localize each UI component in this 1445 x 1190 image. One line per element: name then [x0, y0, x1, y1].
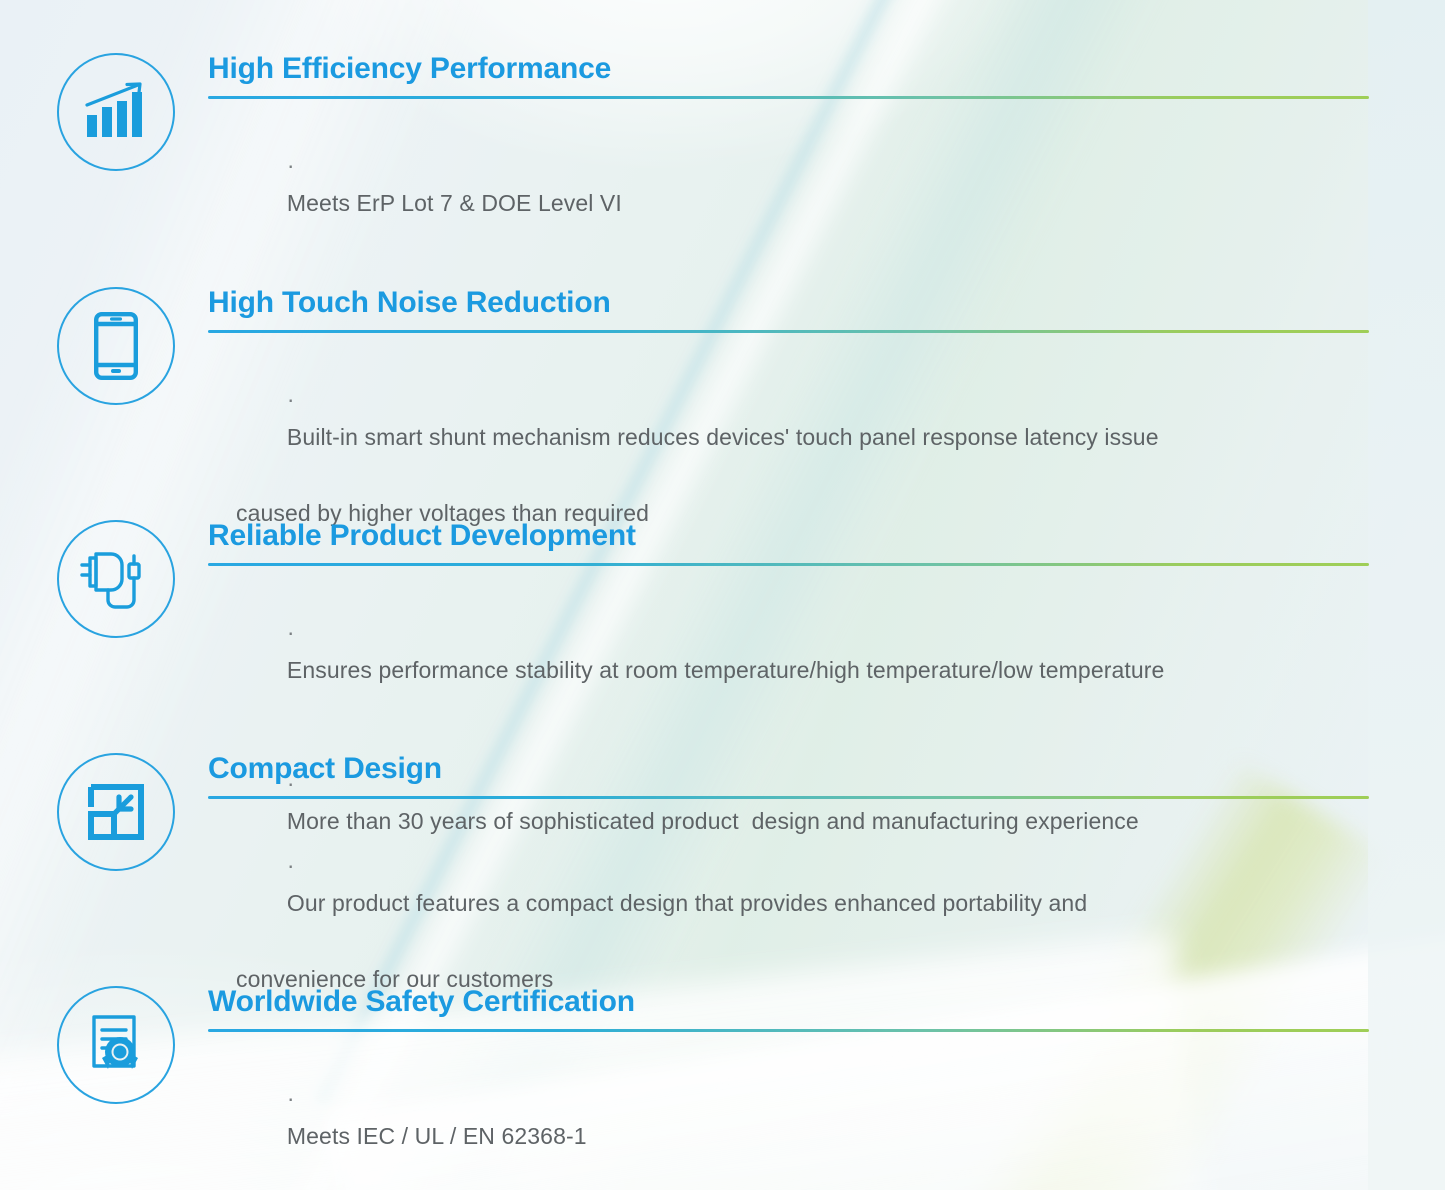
bullet-marker: · [287, 852, 295, 878]
bullet-marker: · [287, 1085, 295, 1111]
bar-chart-growth-icon [57, 53, 175, 171]
compact-resize-icon [57, 753, 175, 871]
feature-bullet: · Meets ErP Lot 7 & DOE Level VI [208, 110, 1369, 262]
feature-bullet: · Meets IEC / UL / EN 62368-1 [208, 1043, 1369, 1190]
bullet-marker: · [287, 152, 295, 178]
feature-icon-wrap [56, 52, 176, 172]
feature-bullet: · Ensures performance stability at room … [208, 577, 1369, 729]
feature-divider [208, 96, 1369, 99]
power-adapter-icon [57, 520, 175, 638]
feature-divider [208, 1029, 1369, 1032]
feature-row-high-efficiency-performance: High Efficiency Performance · Meets ErP … [0, 52, 1445, 261]
certificate-seal-icon [57, 986, 175, 1104]
feature-text-column: High Efficiency Performance · Meets ErP … [208, 52, 1445, 261]
bullet-text: Meets IEC / UL / EN 62368-1 [287, 1123, 587, 1149]
feature-text-column: Worldwide Safety Certification · Meets I… [208, 985, 1445, 1190]
feature-row-worldwide-safety-certification: Worldwide Safety Certification · Meets I… [0, 985, 1445, 1190]
feature-icon-wrap [56, 519, 176, 639]
feature-title: Reliable Product Development [208, 519, 1369, 554]
feature-highlights-page: High Efficiency Performance · Meets ErP … [0, 0, 1445, 1190]
feature-divider [208, 563, 1369, 566]
feature-icon-wrap [56, 752, 176, 872]
bullet-text: Meets ErP Lot 7 & DOE Level VI [287, 190, 622, 216]
feature-title: High Efficiency Performance [208, 52, 1369, 87]
bullet-text: Our product features a compact design th… [287, 890, 1087, 916]
feature-divider [208, 796, 1369, 799]
feature-title: Compact Design [208, 752, 1369, 787]
feature-icon-wrap [56, 286, 176, 406]
bullet-marker: · [287, 386, 295, 412]
feature-title: High Touch Noise Reduction [208, 286, 1369, 321]
bullet-marker: · [287, 619, 295, 645]
feature-title: Worldwide Safety Certification [208, 985, 1369, 1020]
bullet-text: Ensures performance stability at room te… [287, 657, 1165, 683]
feature-icon-wrap [56, 985, 176, 1105]
smartphone-icon [57, 287, 175, 405]
feature-divider [208, 330, 1369, 333]
bullet-text: Built-in smart shunt mechanism reduces d… [287, 424, 1159, 450]
